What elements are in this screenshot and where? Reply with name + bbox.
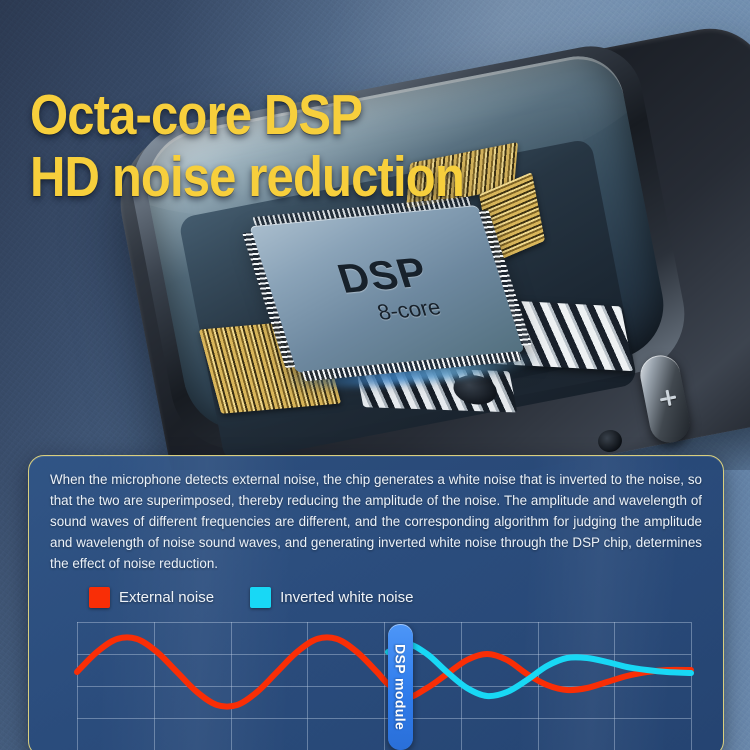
chip-label-cores: 8-core — [375, 296, 444, 323]
dsp-module-badge: DSP module — [388, 624, 413, 750]
page-title: Octa-core DSP HD noise reduction — [30, 28, 546, 265]
legend-item-inverted-white-noise: Inverted white noise — [250, 587, 413, 608]
legend-swatch-red — [89, 587, 110, 608]
legend-label-external-noise: External noise — [119, 589, 214, 606]
dsp-module-badge-label: DSP module — [393, 644, 409, 730]
legend-item-external-noise: External noise — [89, 587, 214, 608]
chart-curve — [388, 644, 691, 696]
info-panel: When the microphone detects external noi… — [28, 455, 724, 750]
plus-icon — [659, 389, 678, 408]
description-paragraph: When the microphone detects external noi… — [50, 470, 702, 575]
product-marketing-image: DSP 8-core Octa-core DSP HD noise reduct… — [0, 0, 750, 750]
chart-curves — [77, 622, 691, 750]
chart-legend: External noise Inverted white noise — [89, 587, 413, 608]
noise-waveform-chart: DSP module — [77, 622, 691, 750]
legend-swatch-cyan — [250, 587, 271, 608]
legend-label-inverted-white-noise: Inverted white noise — [280, 589, 413, 606]
chart-curve — [77, 637, 691, 706]
gridline-vertical — [691, 622, 692, 750]
headline-line-2: HD noise reduction — [30, 148, 546, 206]
headline-line-1: Octa-core DSP — [30, 83, 362, 147]
